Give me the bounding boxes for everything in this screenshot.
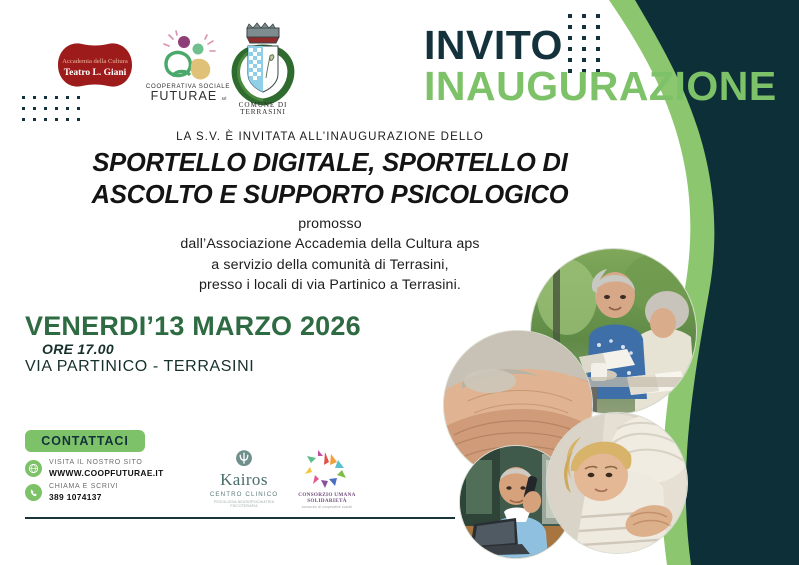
logo-comune-di-terrasini: COMUNE DI TERRASINI	[223, 22, 303, 114]
description-line-2: dall’Associazione Accademia della Cultur…	[0, 234, 660, 254]
comune-shield-icon	[248, 46, 278, 92]
comune-crown-icon	[247, 23, 279, 43]
photo-woman-comforting-elder	[546, 412, 688, 554]
kairos-tagline: PSICOLOGIA NEUROPSICHIATRIA PSICOTERAPIA	[205, 500, 283, 508]
logo-accademia-teatro-giani: Accademia della Cultura Teatro L. Giani	[40, 36, 150, 94]
event-title-line1: SPORTELLO DIGITALE, SPORTELLO DI	[0, 148, 660, 180]
logo-consorzio-umana-solidarieta: CONSORZIO UMANA SOLIDARIETÀ consorzio di…	[288, 449, 366, 509]
page-title-inaugurazione: INAUGURAZIONE	[424, 66, 777, 107]
contact-badge: CONTATTACI	[25, 430, 145, 452]
contact-website-text: VISITA IL NOSTRO SITO WWWW.COOPFUTURAE.I…	[49, 459, 164, 479]
event-time: ORE 17.00	[42, 341, 114, 357]
contact-phone-label: CHIAMA E SCRIVI	[49, 483, 118, 492]
event-date: VENERDI’13 MARZO 2026	[25, 311, 361, 342]
event-title-line2: ASCOLTO E SUPPORTO PSICOLOGICO	[0, 180, 660, 212]
people-burst-icon	[301, 449, 353, 489]
comune-logo-line2: TERRASINI	[240, 108, 286, 114]
dot-grid-left	[22, 96, 88, 129]
kairos-title: Kairos	[205, 471, 283, 488]
description-line-1: promosso	[0, 214, 660, 234]
page-title-invito: INVITO	[424, 25, 563, 66]
consorzio-title: CONSORZIO UMANA SOLIDARIETÀ	[288, 492, 366, 504]
event-address: VIA PARTINICO - TERRASINI	[25, 358, 254, 376]
invitation-kicker: LA S.V. È INVITATA ALL’INAUGURAZIONE DEL…	[0, 131, 660, 143]
teatro-logo-line2: Teatro L. Giani	[64, 68, 127, 78]
futurae-mark	[164, 31, 215, 79]
invitation-poster: INVITO INAUGURAZIONE Accademia della Cul…	[0, 0, 799, 565]
contact-phone-value: 389 1074137	[49, 492, 118, 503]
globe-icon	[25, 460, 42, 477]
psi-icon	[234, 449, 254, 469]
consorzio-tagline: consorzio di cooperative sociali	[288, 505, 366, 509]
contact-row-phone[interactable]: CHIAMA E SCRIVI 389 1074137	[25, 483, 118, 503]
futurae-logo-line2: FUTURAE	[151, 89, 218, 102]
phone-icon	[25, 484, 42, 501]
logo-cooperativa-futurae: COOPERATIVA SOCIALE FUTURAE srl	[144, 30, 232, 102]
contact-website-value: WWWW.COOPFUTURAE.IT	[49, 468, 164, 479]
contact-phone-text: CHIAMA E SCRIVI 389 1074137	[49, 483, 118, 503]
bottom-rule	[25, 517, 455, 519]
teatro-logo-line1: Accademia della Cultura	[62, 58, 128, 65]
logo-kairos-centro-clinico: Kairos CENTRO CLINICO PSICOLOGIA NEUROPS…	[205, 449, 283, 508]
kairos-subtitle: CENTRO CLINICO	[205, 491, 283, 498]
event-title: SPORTELLO DIGITALE, SPORTELLO DI ASCOLTO…	[0, 148, 660, 211]
contact-row-website[interactable]: VISITA IL NOSTRO SITO WWWW.COOPFUTURAE.I…	[25, 459, 164, 479]
contact-website-label: VISITA IL NOSTRO SITO	[49, 459, 164, 468]
